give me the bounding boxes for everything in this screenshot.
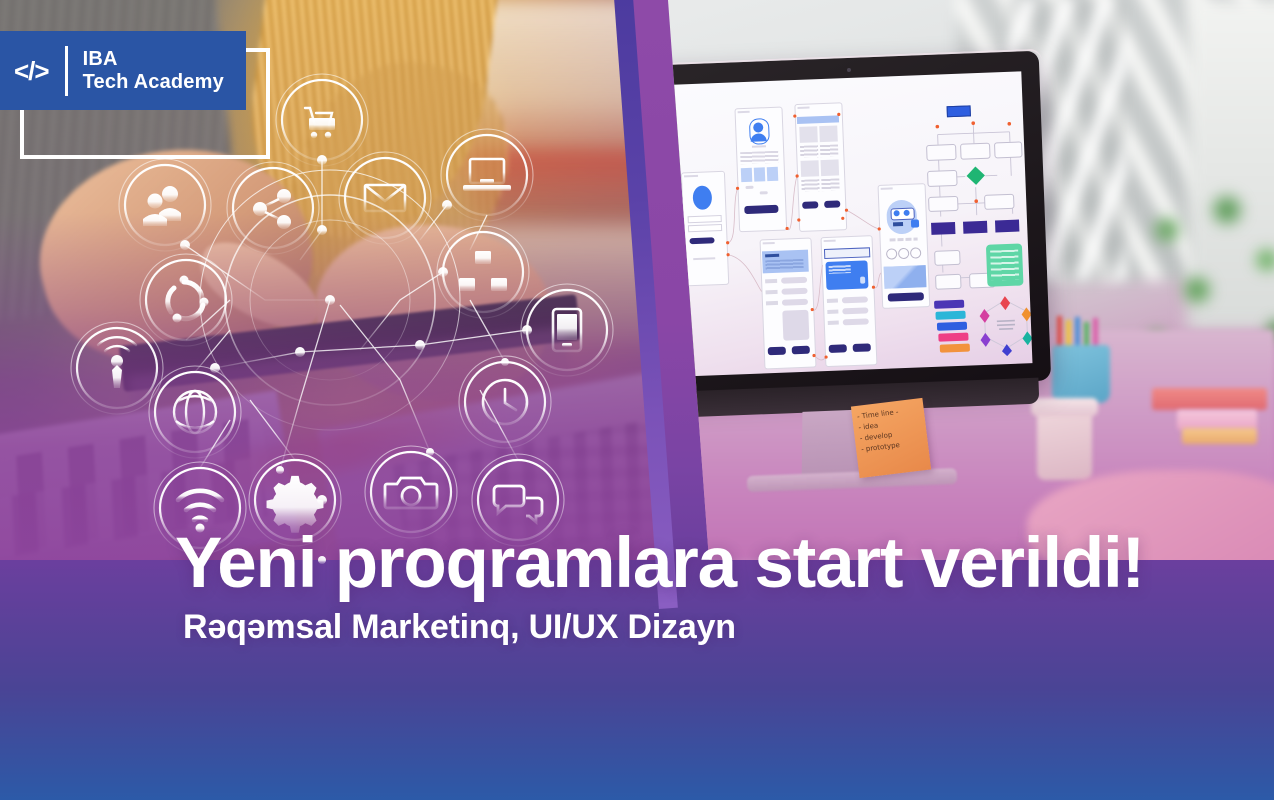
coffee-cup-lid bbox=[1031, 398, 1098, 416]
flow-node-3 bbox=[994, 141, 1023, 158]
swatch-purple bbox=[934, 300, 964, 309]
flow-block-purple-3 bbox=[995, 220, 1019, 233]
flow-node-6 bbox=[984, 194, 1015, 210]
flow-node-2 bbox=[960, 143, 991, 160]
book-red bbox=[1152, 388, 1267, 410]
sticky-note: - Time line - - idea - develop - prototy… bbox=[851, 398, 931, 478]
hexagon-diagram bbox=[974, 293, 1033, 357]
swatch-orange bbox=[940, 344, 970, 353]
imac-screen bbox=[670, 71, 1033, 376]
page-subtitle: Rəqəmsal Marketinq, UI/UX Dizayn bbox=[183, 610, 736, 644]
logo[interactable]: </> IBA Tech Academy bbox=[0, 31, 246, 110]
right-photo bbox=[627, 0, 1274, 560]
sticky-pad-pink bbox=[1177, 410, 1257, 430]
flow-node-5 bbox=[928, 196, 959, 212]
logo-line-2: Tech Academy bbox=[83, 71, 224, 93]
pencil-cup bbox=[1052, 345, 1110, 403]
page-title: Yeni proqramlara start verildi! bbox=[175, 528, 1144, 599]
swatch-pink bbox=[938, 333, 968, 342]
flow-node-8 bbox=[935, 274, 962, 290]
flow-green-lines bbox=[990, 250, 1019, 281]
flow-node-1 bbox=[926, 144, 957, 161]
code-icon: </> bbox=[0, 58, 65, 84]
flow-node-4 bbox=[927, 170, 958, 187]
swatch-cyan bbox=[935, 311, 965, 320]
logo-block: </> IBA Tech Academy bbox=[0, 31, 246, 110]
coffee-cup bbox=[1037, 405, 1092, 480]
logo-text: IBA Tech Academy bbox=[68, 48, 224, 93]
promo-banner: - Time line - - idea - develop - prototy… bbox=[0, 0, 1274, 800]
flow-block-purple-1 bbox=[931, 222, 955, 235]
flow-node-7 bbox=[934, 250, 961, 266]
logo-line-1: IBA bbox=[83, 48, 224, 70]
swatch-blue bbox=[937, 322, 967, 331]
imac-webcam bbox=[847, 68, 851, 72]
sticky-pad-orange bbox=[1182, 428, 1257, 444]
flow-block-purple-2 bbox=[963, 221, 987, 234]
